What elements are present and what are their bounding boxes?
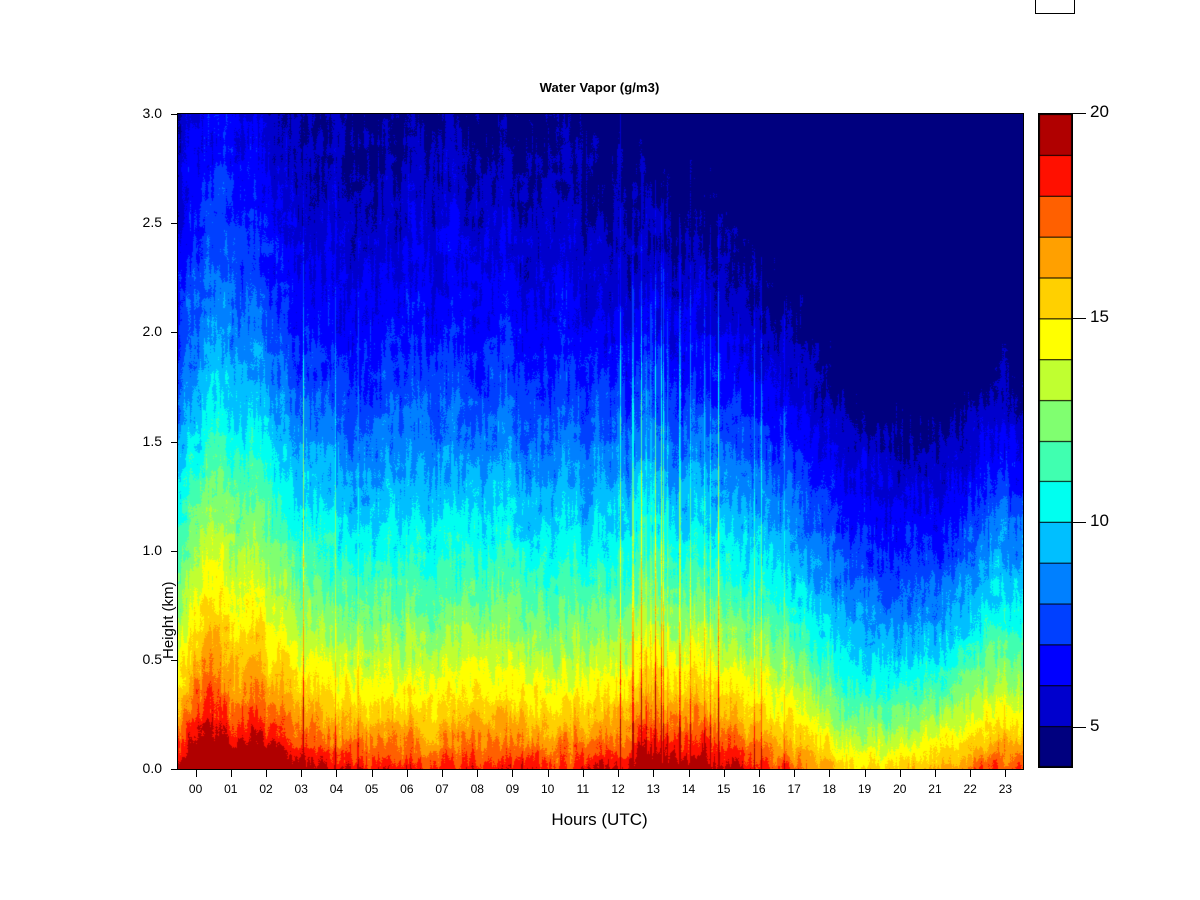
x-tick-label: 10 [533,782,563,796]
x-tick [336,770,337,777]
colorbar-tick-label: 10 [1090,511,1109,531]
x-tick-label: 02 [251,782,281,796]
x-tick-label: 04 [321,782,351,796]
y-tick [171,114,178,115]
colorbar-tick [1073,318,1086,319]
heatmap-canvas [178,114,1023,769]
x-tick-label: 08 [462,782,492,796]
chart-stage: Water Vapor (g/m3) 000102030405060708091… [0,0,1200,900]
x-tick [442,770,443,777]
y-tick-label: 3.0 [102,105,162,121]
page-title: Water Vapor (g/m3) [177,80,1022,95]
x-tick-label: 14 [674,782,704,796]
x-tick [794,770,795,777]
x-tick [196,770,197,777]
x-tick-label: 16 [744,782,774,796]
x-tick [935,770,936,777]
x-tick-label: 17 [779,782,809,796]
x-axis-title: Hours (UTC) [177,810,1022,830]
y-tick-label: 0.0 [102,760,162,776]
x-tick-label: 01 [216,782,246,796]
y-tick [171,660,178,661]
y-tick [171,223,178,224]
colorbar-canvas [1038,113,1073,768]
y-tick [171,332,178,333]
colorbar: 5101520 [1038,113,1073,768]
x-tick-label: 07 [427,782,457,796]
y-tick-label: 2.0 [102,323,162,339]
x-tick [407,770,408,777]
x-tick-label: 11 [568,782,598,796]
x-tick [829,770,830,777]
x-tick [759,770,760,777]
colorbar-tick-label: 15 [1090,307,1109,327]
x-tick [724,770,725,777]
x-tick-label: 22 [955,782,985,796]
x-tick-label: 12 [603,782,633,796]
x-tick [689,770,690,777]
x-tick [301,770,302,777]
x-tick-label: 13 [638,782,668,796]
y-axis-title: Height (km) [160,581,177,659]
y-tick [171,551,178,552]
x-tick-label: 09 [497,782,527,796]
x-tick [653,770,654,777]
x-tick [372,770,373,777]
x-tick [1005,770,1006,777]
x-tick [970,770,971,777]
x-tick-label: 18 [814,782,844,796]
colorbar-tick-label: 20 [1090,102,1109,122]
y-tick-label: 1.0 [102,542,162,558]
plot-area: 0001020304050607080910111213141516171819… [177,113,1024,770]
colorbar-tick [1073,113,1086,114]
x-tick-label: 21 [920,782,950,796]
y-tick [171,769,178,770]
y-tick-label: 2.5 [102,214,162,230]
top-right-frame-fragment [1035,0,1075,14]
colorbar-tick [1073,522,1086,523]
x-tick [512,770,513,777]
x-tick [865,770,866,777]
y-tick-label: 0.5 [102,651,162,667]
x-tick [231,770,232,777]
x-tick [548,770,549,777]
x-tick-label: 20 [885,782,915,796]
x-tick-label: 03 [286,782,316,796]
colorbar-tick-label: 5 [1090,716,1099,736]
x-tick [583,770,584,777]
colorbar-tick [1073,727,1086,728]
x-tick-label: 05 [357,782,387,796]
x-tick [266,770,267,777]
x-tick-label: 00 [181,782,211,796]
x-tick [477,770,478,777]
x-tick-label: 23 [990,782,1020,796]
x-tick-label: 19 [850,782,880,796]
x-tick [618,770,619,777]
x-tick [900,770,901,777]
x-tick-label: 06 [392,782,422,796]
x-tick-label: 15 [709,782,739,796]
y-tick [171,442,178,443]
y-tick-label: 1.5 [102,433,162,449]
